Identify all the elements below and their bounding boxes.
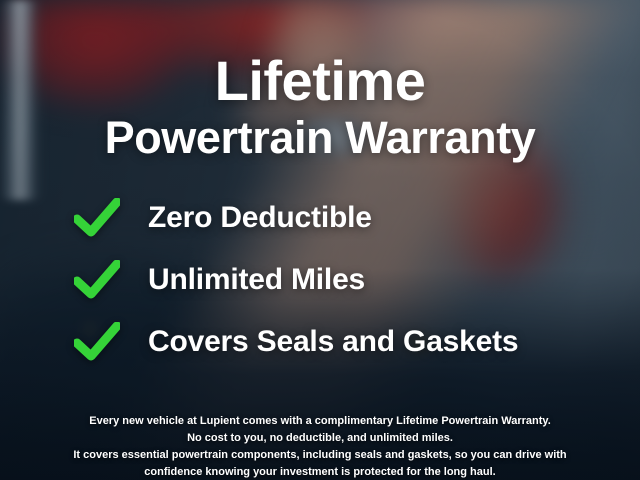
banner-content: Lifetime Powertrain Warranty Zero Deduct… bbox=[0, 21, 640, 480]
check-icon bbox=[74, 322, 120, 362]
feature-label: Covers Seals and Gaskets bbox=[148, 325, 518, 359]
check-icon bbox=[74, 260, 120, 300]
feature-item-zero-deductible: Zero Deductible bbox=[0, 187, 640, 249]
feature-list: Zero Deductible Unlimited Miles Covers S… bbox=[0, 187, 640, 373]
description-line: Every new vehicle at Lupient comes with … bbox=[26, 413, 614, 430]
page-title: Lifetime Powertrain Warranty bbox=[0, 21, 640, 165]
description-line: It covers essential powertrain component… bbox=[26, 447, 614, 464]
description-line: No cost to you, no deductible, and unlim… bbox=[26, 430, 614, 447]
headline-line-1: Lifetime bbox=[0, 51, 640, 111]
feature-label: Zero Deductible bbox=[148, 201, 372, 235]
warranty-banner: Lifetime Powertrain Warranty Zero Deduct… bbox=[0, 0, 640, 480]
description-line: confidence knowing your investment is pr… bbox=[26, 464, 614, 480]
description-text: Every new vehicle at Lupient comes with … bbox=[0, 413, 640, 480]
feature-label: Unlimited Miles bbox=[148, 263, 365, 297]
check-icon bbox=[74, 198, 120, 238]
feature-item-covers-seals-and-gaskets: Covers Seals and Gaskets bbox=[0, 311, 640, 373]
feature-item-unlimited-miles: Unlimited Miles bbox=[0, 249, 640, 311]
headline-line-2: Powertrain Warranty bbox=[0, 111, 640, 165]
